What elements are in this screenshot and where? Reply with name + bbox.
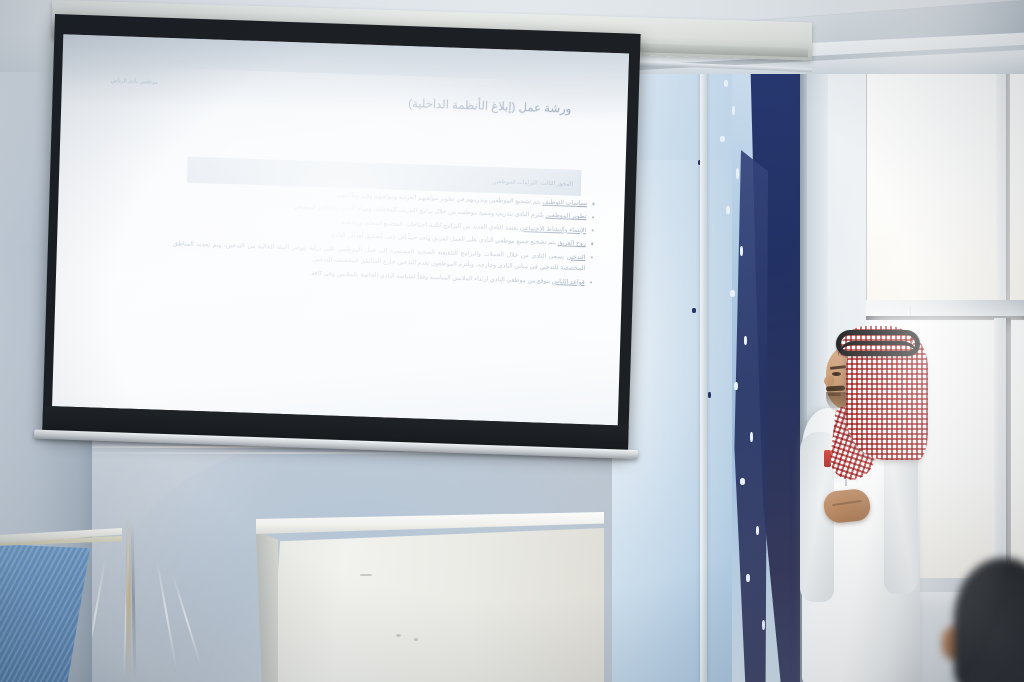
mural-speck [750, 432, 753, 442]
nose [824, 376, 834, 386]
mural-speck [762, 620, 765, 630]
mural-speck-dark [692, 308, 696, 313]
mural-speck [720, 136, 725, 142]
foreground-hair [954, 558, 1024, 682]
foreground-neck [966, 668, 1024, 682]
mural-speck [724, 80, 728, 87]
mural-speck [726, 206, 730, 214]
bullet-dot-icon [590, 281, 592, 283]
mural-speck [732, 106, 735, 115]
presenter [788, 322, 938, 682]
presentation-slide: موظفين نادي الرياض ورشة عمل (إبلاغ الأنظ… [52, 34, 629, 425]
bullet-dot-icon [591, 229, 593, 231]
slide-corner-label: موظفين نادي الرياض [111, 78, 158, 86]
bullet-dot-icon [592, 203, 594, 205]
mural-speck [740, 478, 745, 485]
slide-bullet-list: سياسات التوظيف يتم تشجيع الموظفين وتدريب… [172, 184, 595, 290]
bullet-dot-icon [592, 216, 594, 218]
moustache [826, 386, 845, 392]
bullet-dot-icon [590, 256, 592, 258]
mural-speck [744, 336, 747, 345]
screen-projection-surface: موظفين نادي الرياض ورشة عمل (إبلاغ الأنظ… [52, 34, 629, 425]
mural-speck [756, 526, 759, 535]
window-latch [908, 306, 911, 316]
mural-panel-divider [700, 40, 707, 682]
mural-speck [746, 574, 750, 582]
blue-chair [0, 544, 90, 682]
bullet-dot-icon [591, 243, 593, 245]
mural-speck [734, 382, 738, 390]
mural-speck [740, 246, 743, 256]
photograph-scene: موظفين نادي الرياض ورشة عمل (إبلاغ الأنظ… [0, 0, 1024, 682]
mural-speck [730, 290, 735, 297]
mural-speck [736, 168, 739, 179]
podium-side-panel [256, 530, 278, 682]
lectern-podium [256, 512, 604, 682]
podium-scuff [396, 634, 401, 637]
podium-front-panel [270, 528, 604, 682]
wall-tear [126, 515, 131, 682]
slide-title: ورشة عمل (إبلاغ الأنظمة الداخلية) [408, 96, 571, 116]
podium-scuff [414, 638, 418, 641]
projection-screen: موظفين نادي الرياض ورشة عمل (إبلاغ الأنظ… [42, 14, 640, 454]
mural-speck-dark [708, 392, 711, 398]
foreground-audience-head [936, 552, 1024, 682]
agal-cord-second-loop [838, 341, 918, 357]
side-desk-and-chair [0, 528, 122, 682]
podium-scuff [360, 574, 372, 576]
eye [832, 372, 841, 376]
